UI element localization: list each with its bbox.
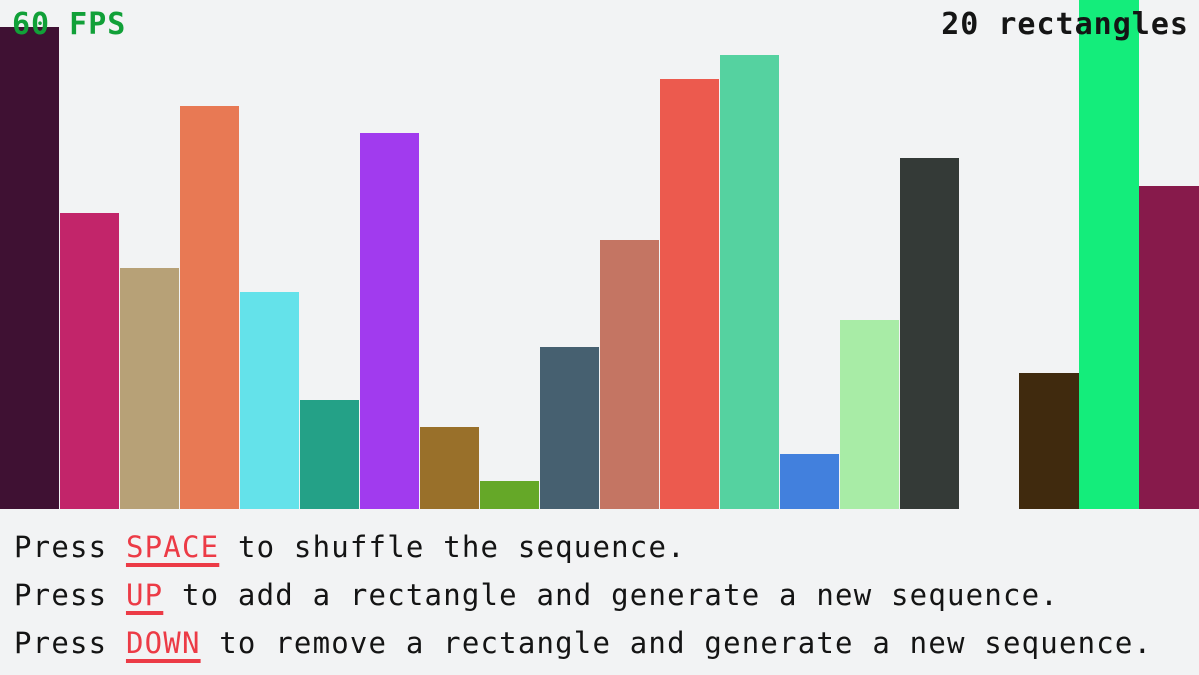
- instruction-line: Press UP to add a rectangle and generate…: [14, 571, 1199, 619]
- bar-rectangle: [240, 292, 299, 509]
- instruction-line: Press DOWN to remove a rectangle and gen…: [14, 619, 1199, 667]
- bar-rectangle: [300, 400, 359, 509]
- bar-rectangle: [120, 268, 179, 509]
- bar-rectangle: [480, 481, 539, 509]
- bar-rectangle: [600, 240, 659, 509]
- bar-rectangle: [60, 213, 119, 509]
- instruction-suffix: to add a rectangle and generate a new se…: [163, 578, 1059, 612]
- bar-rectangle: [420, 427, 479, 509]
- bar-rectangle: [1079, 0, 1139, 509]
- key-hint-up[interactable]: UP: [126, 578, 163, 612]
- bar-rectangle: [180, 106, 239, 509]
- instruction-prefix: Press: [14, 578, 126, 612]
- key-hint-down[interactable]: DOWN: [126, 626, 201, 660]
- instruction-suffix: to remove a rectangle and generate a new…: [201, 626, 1153, 660]
- bar-rectangle: [840, 320, 899, 509]
- bar-rectangle: [660, 79, 719, 509]
- key-hint-space[interactable]: SPACE: [126, 530, 219, 564]
- bar-rectangle: [540, 347, 599, 509]
- instructions-panel: Press SPACE to shuffle the sequence.Pres…: [0, 509, 1199, 675]
- rectangle-sequence-chart[interactable]: [0, 0, 1199, 509]
- rectangle-count-label: 20 rectangles: [941, 8, 1189, 42]
- fps-counter: 60 FPS: [12, 8, 126, 42]
- instruction-suffix: to shuffle the sequence.: [219, 530, 686, 564]
- bar-rectangle: [780, 454, 839, 509]
- instruction-prefix: Press: [14, 530, 126, 564]
- bar-rectangle: [0, 27, 59, 509]
- bar-rectangle: [1139, 186, 1199, 509]
- bar-rectangle: [900, 158, 959, 509]
- app-root: 60 FPS 20 rectangles Press SPACE to shuf…: [0, 0, 1199, 675]
- bar-rectangle: [360, 133, 419, 509]
- instruction-line: Press SPACE to shuffle the sequence.: [14, 523, 1199, 571]
- instruction-prefix: Press: [14, 626, 126, 660]
- bar-rectangle: [1019, 373, 1079, 509]
- bar-rectangle: [720, 55, 779, 509]
